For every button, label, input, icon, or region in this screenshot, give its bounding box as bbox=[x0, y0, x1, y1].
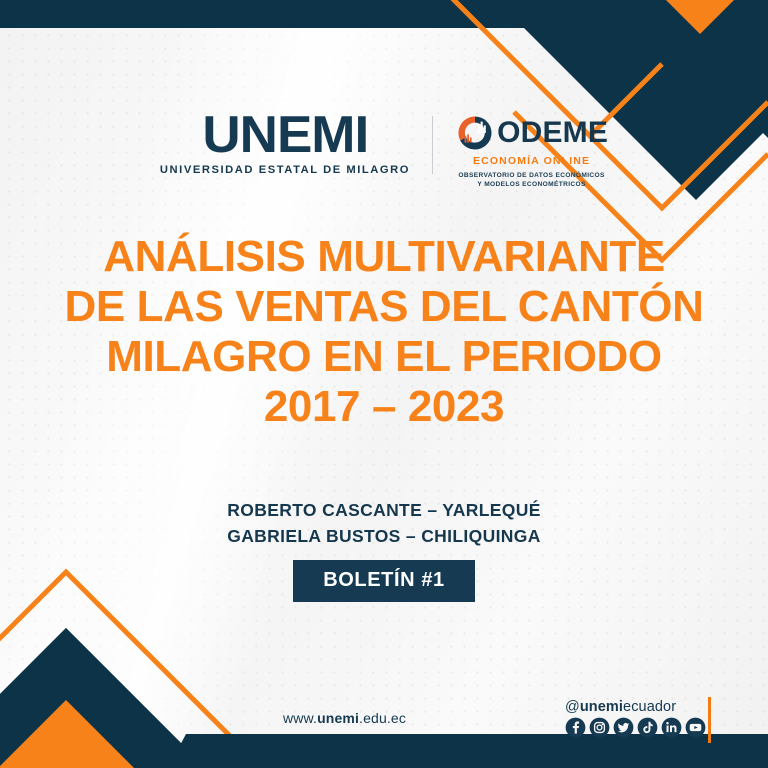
odeme-description-line-2: Y MODELOS ECONOMÉTRICOS bbox=[458, 180, 604, 189]
odeme-circle-icon bbox=[455, 113, 495, 153]
title-line-1: ANÁLISIS MULTIVARIANTE bbox=[0, 232, 768, 282]
social-accent-bar bbox=[708, 697, 711, 743]
poster-canvas: UNEMI UNIVERSIDAD ESTATAL DE MILAGRO O bbox=[0, 0, 768, 768]
social-icon-row bbox=[565, 717, 706, 738]
unemi-tagline: UNIVERSIDAD ESTATAL DE MILAGRO bbox=[160, 164, 410, 176]
linkedin-icon[interactable] bbox=[661, 717, 682, 738]
twitter-icon[interactable] bbox=[613, 717, 634, 738]
social-handle: @unemiecuador bbox=[565, 699, 676, 715]
handle-prefix: @ bbox=[565, 699, 580, 715]
status-badge: BOLETÍN #1 bbox=[293, 560, 475, 602]
title-line-2: DE LAS VENTAS DEL CANTÓN bbox=[0, 282, 768, 332]
title-line-4: 2017 – 2023 bbox=[0, 382, 768, 432]
facebook-icon[interactable] bbox=[565, 717, 586, 738]
instagram-icon[interactable] bbox=[589, 717, 610, 738]
logo-divider bbox=[432, 116, 433, 174]
odeme-description-line-1: OBSERVATORIO DE DATOS ECONÓMICOS bbox=[458, 171, 604, 180]
page-title: ANÁLISIS MULTIVARIANTE DE LAS VENTAS DEL… bbox=[0, 232, 768, 433]
author-list: ROBERTO CASCANTE – YARLEQUÉ GABRIELA BUS… bbox=[0, 498, 768, 550]
odeme-wordmark-group: ODEME bbox=[455, 113, 608, 153]
unemi-wordmark-group: UNEMI bbox=[204, 112, 367, 160]
odeme-tagline: ECONOMÍA ONLINE bbox=[473, 155, 590, 167]
website-suffix: .edu.ec bbox=[359, 710, 406, 726]
social-media-block: @unemiecuador bbox=[565, 699, 706, 738]
handle-bold: unemi bbox=[580, 699, 623, 715]
odeme-logo: ODEME ECONOMÍA ONLINE OBSERVATORIO DE DA… bbox=[455, 113, 608, 189]
badge-container: BOLETÍN #1 bbox=[0, 560, 768, 602]
website-url[interactable]: www.unemi.edu.ec bbox=[283, 710, 406, 726]
handle-suffix: ecuador bbox=[623, 699, 676, 715]
odeme-description: OBSERVATORIO DE DATOS ECONÓMICOS Y MODEL… bbox=[458, 171, 604, 189]
logo-header: UNEMI UNIVERSIDAD ESTATAL DE MILAGRO O bbox=[0, 112, 768, 189]
website-bold: unemi bbox=[317, 710, 359, 726]
author-line-2: GABRIELA BUSTOS – CHILIQUINGA bbox=[0, 524, 768, 550]
website-prefix: www. bbox=[283, 710, 317, 726]
tiktok-icon[interactable] bbox=[637, 717, 658, 738]
unemi-wordmark: UNEMI bbox=[202, 112, 368, 160]
unemi-logo: UNEMI UNIVERSIDAD ESTATAL DE MILAGRO bbox=[160, 112, 410, 176]
youtube-icon[interactable] bbox=[685, 717, 706, 738]
odeme-wordmark: ODEME bbox=[497, 118, 608, 148]
title-line-3: MILAGRO EN EL PERIODO bbox=[0, 332, 768, 382]
author-line-1: ROBERTO CASCANTE – YARLEQUÉ bbox=[0, 498, 768, 524]
